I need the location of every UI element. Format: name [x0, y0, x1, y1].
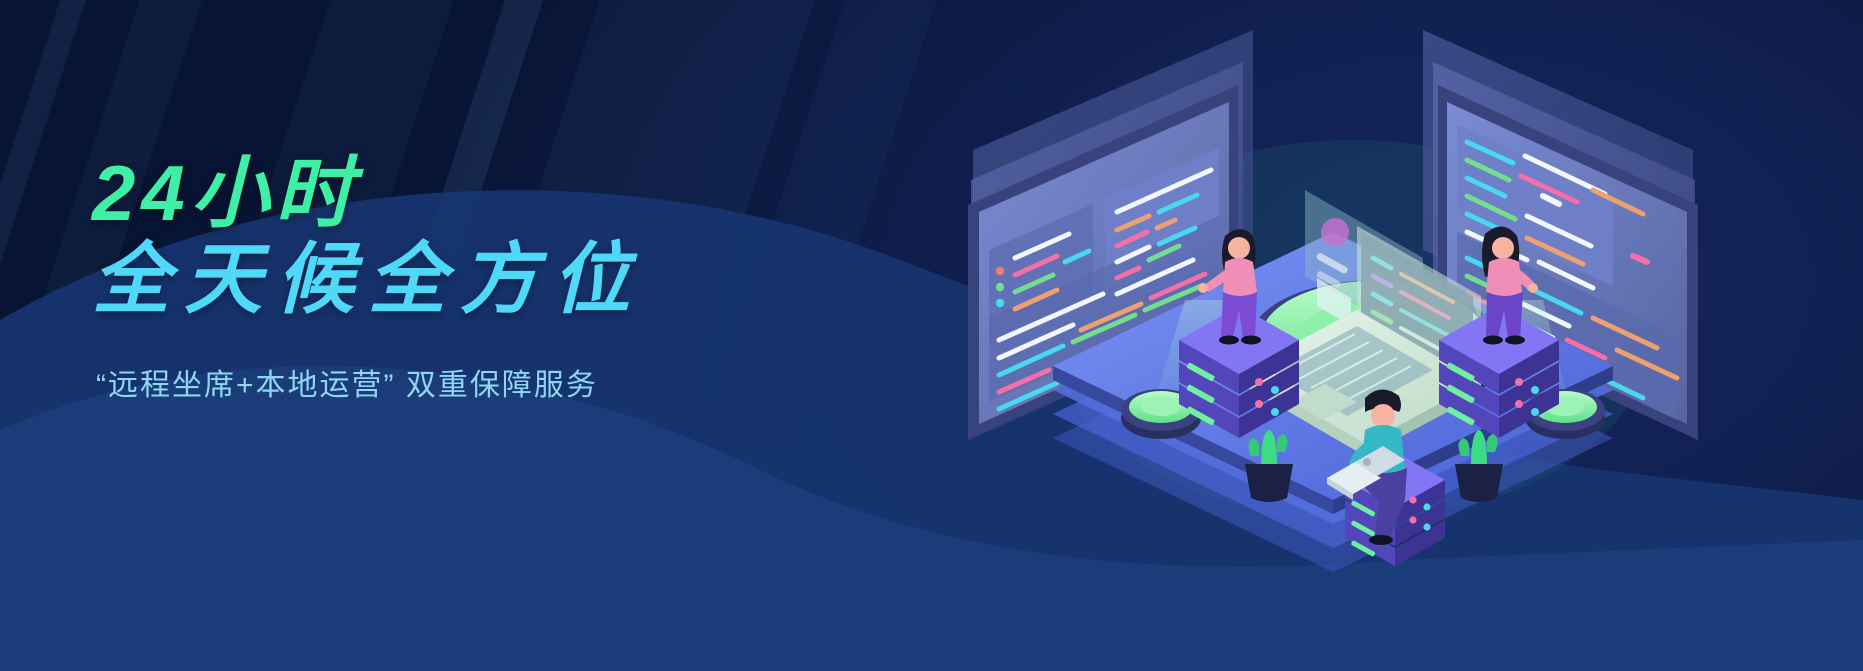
person-left-shoe-b	[1241, 336, 1261, 345]
person-front-head	[1371, 404, 1395, 428]
stripe-1	[0, 0, 105, 410]
person-right-head	[1492, 237, 1514, 259]
laptop-aux-avatar	[1321, 218, 1349, 246]
promo-banner: 24小时 全天候全方位 “远程坐席+本地运营” 双重保障服务	[0, 0, 1863, 671]
headline-line-2: 全天候全方位	[92, 236, 812, 322]
subtitle: “远程坐席+本地运营” 双重保障服务	[96, 360, 812, 404]
cactus-right	[1455, 430, 1503, 502]
person-left-head	[1228, 237, 1250, 259]
screen-left-status-dots	[996, 267, 1004, 307]
isometric-data-center-scene	[953, 0, 1713, 671]
person-right-shoe-a	[1483, 336, 1503, 345]
cactus-left	[1245, 430, 1293, 502]
person-front-shoe	[1369, 535, 1393, 545]
headline-block: 24小时 全天候全方位 “远程坐席+本地运营” 双重保障服务	[92, 150, 812, 404]
person-right-shoe-b	[1505, 336, 1525, 345]
headline-line-1: 24小时	[92, 150, 812, 236]
person-left-shoe-a	[1219, 336, 1239, 345]
illustration-svg	[953, 0, 1713, 671]
